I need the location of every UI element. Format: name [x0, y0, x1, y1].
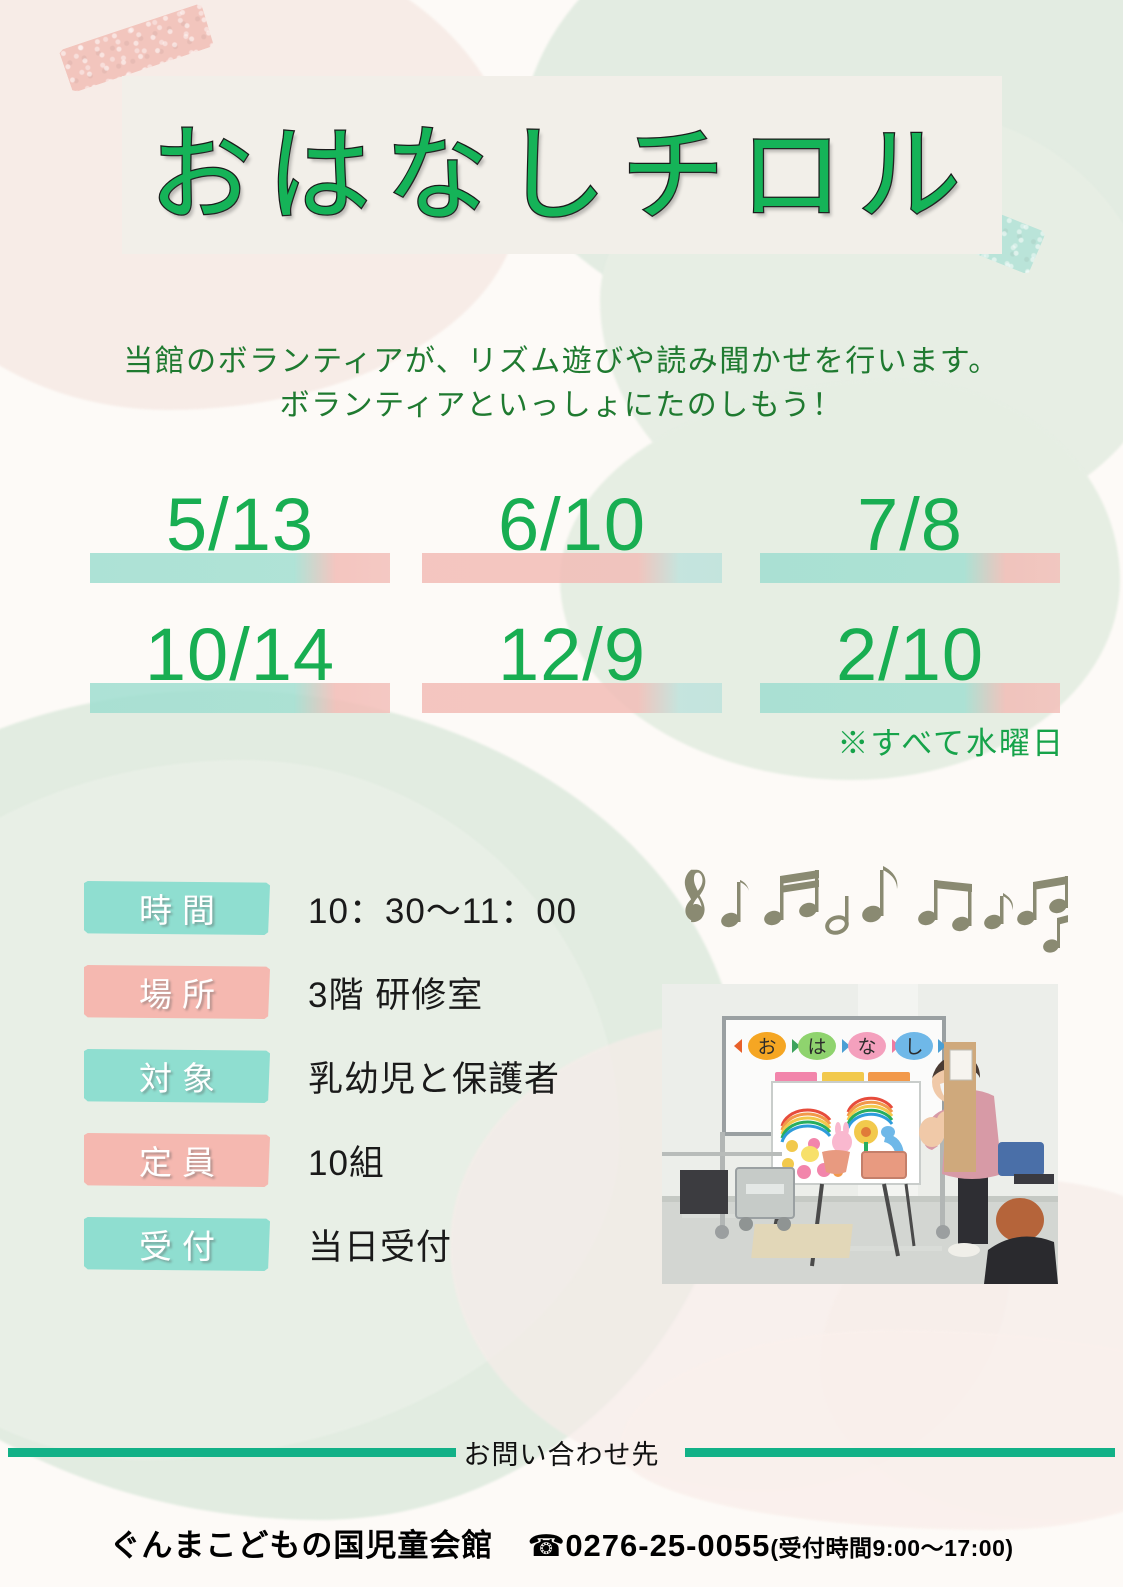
beamed-notes-lower-right-icon [1041, 914, 1068, 955]
contact-divider: お問い合わせ先 [0, 1432, 1123, 1472]
detail-tag-label: 対象 [129, 1052, 225, 1100]
eighth-note-small-icon [982, 893, 1013, 931]
date-item: 2/10 [760, 605, 1060, 725]
page-title: おはなしチロル [122, 76, 1002, 254]
svg-text:お: お [757, 1037, 776, 1058]
telephone-icon: ☎ [527, 1530, 565, 1563]
detail-value-reception: 当日受付 [308, 1219, 452, 1270]
date-item: 5/13 [90, 475, 390, 595]
detail-row-capacity: 定員 10組 [84, 1118, 577, 1202]
beamed-sixteenth-notes-icon [762, 870, 819, 927]
detail-tag-label: 定員 [129, 1136, 225, 1184]
date-label: 10/14 [90, 605, 390, 705]
detail-tag-place: 場所 [84, 965, 270, 1019]
detail-row-place: 場所 3階 研修室 [84, 950, 577, 1034]
storytelling-session-photo: お は な し [662, 984, 1058, 1284]
detail-value-capacity: 10組 [308, 1135, 385, 1186]
detail-value-place: 3階 研修室 [308, 967, 483, 1018]
date-row-2: 10/14 12/9 2/10 [0, 605, 1123, 735]
event-description: 当館のボランティアが、リズム遊びや読み聞かせを行います。 ボランティアといっしょ… [0, 340, 1123, 428]
date-label: 12/9 [422, 605, 722, 705]
divider-rule-right [685, 1448, 1115, 1457]
detail-tag-target: 対象 [84, 1049, 270, 1103]
half-note-icon [825, 896, 849, 935]
date-label: 6/10 [422, 475, 722, 575]
detail-tag-label: 時間 [129, 884, 225, 932]
contact-divider-label: お問い合わせ先 [448, 1433, 676, 1472]
reception-hours: (受付時間9:00〜17:00) [770, 1535, 1013, 1561]
date-label: 7/8 [760, 475, 1060, 575]
svg-text:し: し [904, 1037, 923, 1058]
organization-name: ぐんまこどもの国児童会館 [109, 1528, 493, 1563]
eighth-note-icon [860, 866, 897, 925]
detail-value-time: 10：30〜11：00 [308, 883, 577, 934]
weekday-note: ※すべて水曜日 [0, 718, 1065, 763]
date-item: 10/14 [90, 605, 390, 725]
date-item: 12/9 [422, 605, 722, 725]
telephone-number[interactable]: 0276-25-0055 [565, 1528, 770, 1563]
detail-row-time: 時間 10：30〜11：00 [84, 866, 577, 950]
date-label: 2/10 [760, 605, 1060, 705]
detail-tag-capacity: 定員 [84, 1133, 270, 1187]
detail-tag-time: 時間 [84, 881, 270, 935]
quarter-note-icon [719, 880, 749, 929]
treble-clef-icon [685, 870, 706, 922]
date-item: 7/8 [760, 475, 1060, 595]
beamed-eighth-notes-icon [916, 880, 972, 933]
detail-row-target: 対象 乳幼児と保護者 [84, 1034, 577, 1118]
detail-tag-reception: 受付 [84, 1217, 270, 1271]
detail-value-target: 乳幼児と保護者 [308, 1051, 560, 1102]
svg-text:は: は [807, 1037, 826, 1058]
date-item: 6/10 [422, 475, 722, 595]
music-notes-icon [668, 858, 1068, 958]
event-details-list: 時間 10：30〜11：00 場所 3階 研修室 対象 乳幼児と保護者 定員 1… [84, 866, 577, 1286]
divider-rule-left [8, 1448, 456, 1457]
footer: お問い合わせ先 ぐんまこどもの国児童会館☎0276-25-0055(受付時間9:… [0, 1432, 1123, 1565]
detail-row-reception: 受付 当日受付 [84, 1202, 577, 1286]
event-dates: 5/13 6/10 7/8 10/14 12/9 2/10 [0, 475, 1123, 735]
date-label: 5/13 [90, 475, 390, 575]
detail-tag-label: 場所 [129, 968, 225, 1016]
event-photo: お は な し [662, 984, 1058, 1284]
description-line-1: 当館のボランティアが、リズム遊びや読み聞かせを行います。 [0, 340, 1123, 384]
date-row-1: 5/13 6/10 7/8 [0, 475, 1123, 605]
detail-tag-label: 受付 [129, 1220, 225, 1268]
svg-text:な: な [857, 1037, 876, 1058]
description-line-2: ボランティアといっしょにたのしもう！ [0, 384, 1123, 428]
music-notes-decoration [668, 858, 1068, 958]
contact-info: ぐんまこどもの国児童会館☎0276-25-0055(受付時間9:00〜17:00… [0, 1520, 1123, 1565]
